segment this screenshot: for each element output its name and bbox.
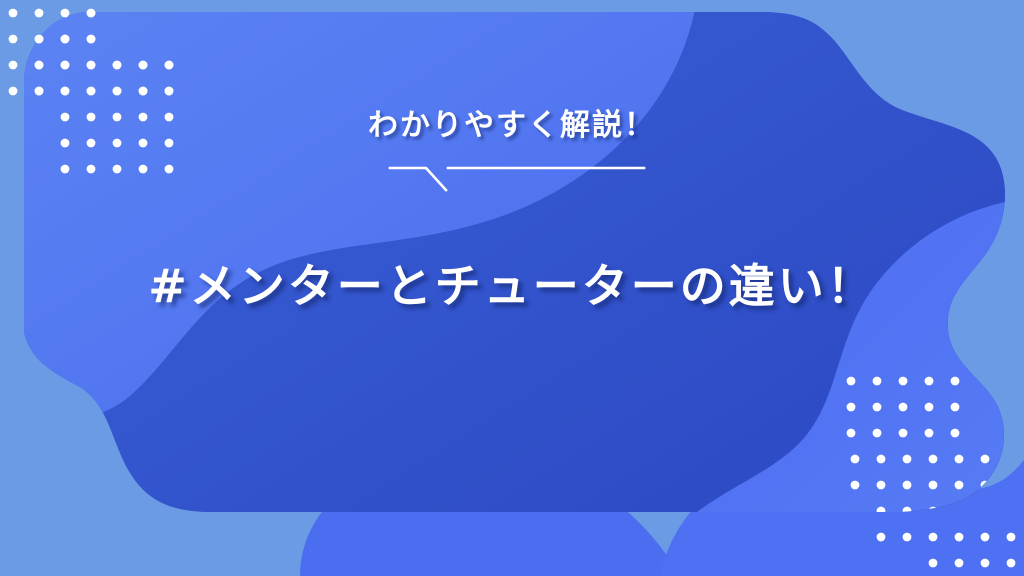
slide-canvas: わかりやすく解説！ #メンターとチューターの違い！	[0, 0, 1024, 576]
slide-content: わかりやすく解説！ #メンターとチューターの違い！	[0, 0, 1024, 576]
angled-underline-icon	[382, 158, 652, 194]
slide-title: #メンターとチューターの違い！	[0, 258, 1024, 316]
slide-subtitle: わかりやすく解説！	[0, 108, 1024, 144]
